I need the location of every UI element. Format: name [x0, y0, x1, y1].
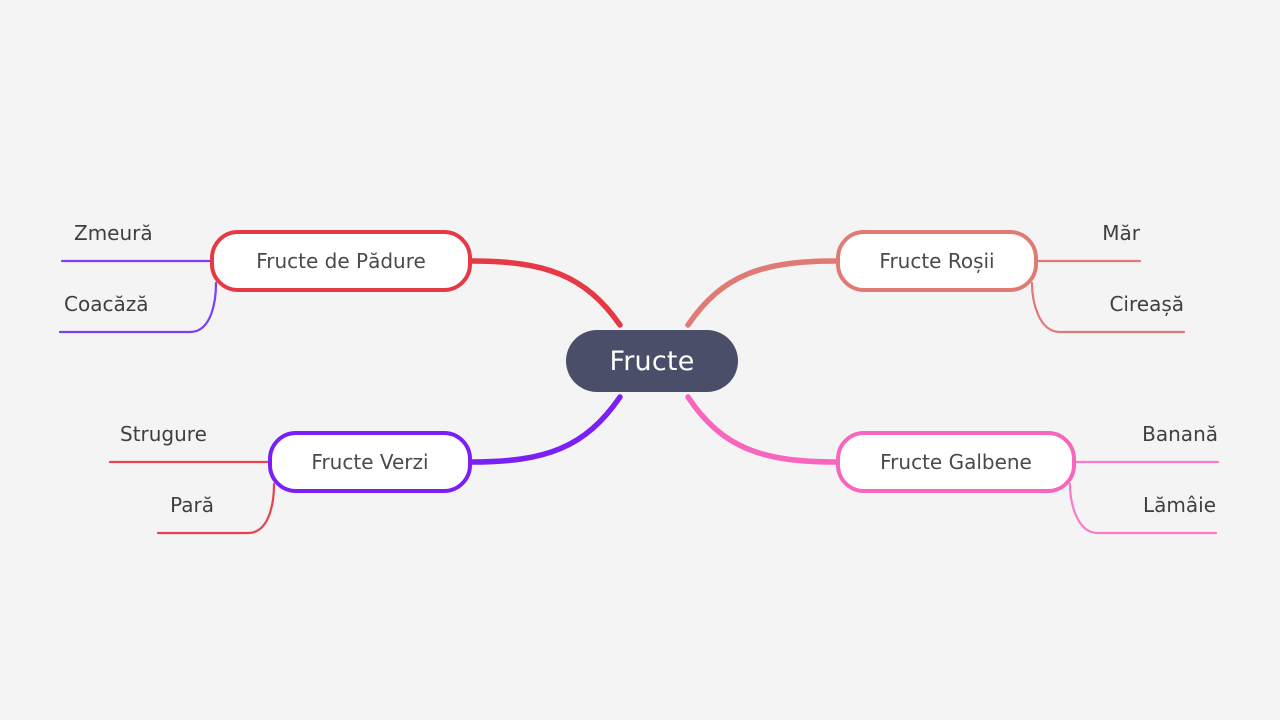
mindmap-canvas: Fructe Fructe de Pădure Fructe Roșii Fru…: [0, 0, 1280, 720]
edge-root-to-fructe-galbene: [688, 397, 836, 462]
root-node-fructe[interactable]: Fructe: [566, 330, 738, 392]
leaf-label-cireasa[interactable]: Cireașă: [1074, 292, 1184, 316]
edge-root-to-fructe-de-padure: [472, 261, 620, 325]
leaf-label-banana[interactable]: Banană: [1104, 422, 1218, 446]
branch-node-label: Fructe Verzi: [311, 450, 428, 474]
branch-node-fructe-galbene[interactable]: Fructe Galbene: [836, 431, 1076, 493]
branch-node-label: Fructe de Pădure: [256, 249, 426, 273]
branch-node-fructe-de-padure[interactable]: Fructe de Pădure: [210, 230, 472, 292]
root-node-label: Fructe: [609, 346, 694, 377]
branch-node-label: Fructe Roșii: [879, 249, 994, 273]
leaf-label-strugure[interactable]: Strugure: [120, 422, 207, 446]
edge-root-to-fructe-verzi: [472, 397, 620, 462]
leaf-label-mar[interactable]: Măr: [1040, 221, 1140, 245]
branch-node-fructe-rosii[interactable]: Fructe Roșii: [836, 230, 1038, 292]
branch-node-fructe-verzi[interactable]: Fructe Verzi: [268, 431, 472, 493]
leaf-label-zmeura[interactable]: Zmeură: [74, 221, 153, 245]
leaf-label-para[interactable]: Pară: [148, 493, 214, 517]
edge-root-to-fructe-rosii: [688, 261, 836, 325]
branch-node-label: Fructe Galbene: [880, 450, 1032, 474]
leaf-label-coacaza[interactable]: Coacăză: [64, 292, 148, 316]
leaf-label-lamaie[interactable]: Lămâie: [1108, 493, 1216, 517]
